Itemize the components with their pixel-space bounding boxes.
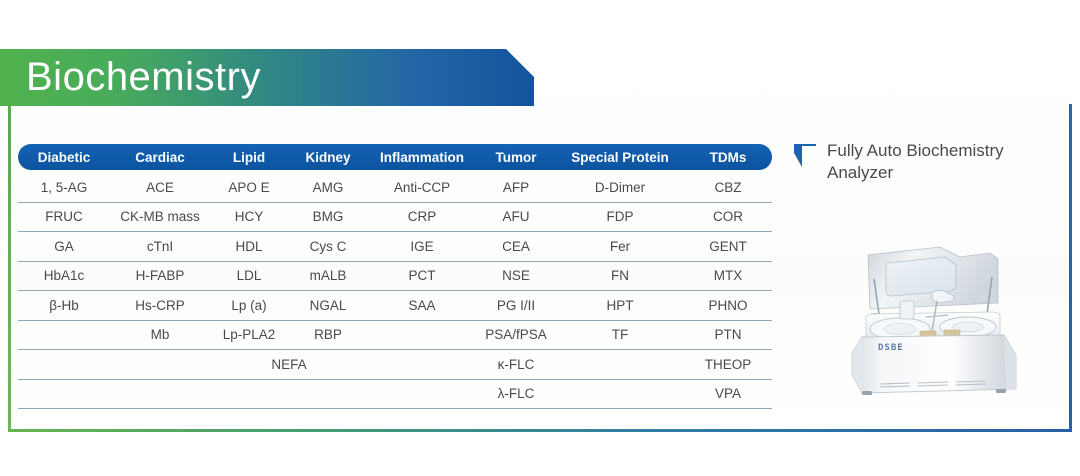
table-row: 1, 5-AG ACE APO E AMG Anti-CCP AFP D-Dim… xyxy=(18,170,772,202)
cell-tdms: VPA xyxy=(684,379,772,409)
cell-inflammation: CRP xyxy=(368,202,476,232)
column-header-lipid: Lipid xyxy=(210,144,288,170)
cell-tdms: GENT xyxy=(684,232,772,262)
cell-kidney: RBP xyxy=(288,320,368,350)
cell-special-protein: D-Dimer xyxy=(556,170,684,202)
column-header-inflammation: Inflammation xyxy=(368,144,476,170)
cell-special-protein: TF xyxy=(556,320,684,350)
cell-tdms: THEOP xyxy=(684,350,772,380)
section-banner: Biochemistry xyxy=(0,49,534,106)
cell-inflammation: IGE xyxy=(368,232,476,262)
cell-kidney: mALB xyxy=(288,261,368,291)
cell-tdms: MTX xyxy=(684,261,772,291)
product-heading-wrapper: Fully Auto Biochemistry Analyzer xyxy=(793,140,1063,185)
cell-inflammation: SAA xyxy=(368,291,476,321)
cell-inflammation xyxy=(368,320,476,350)
cell-diabetic: FRUC xyxy=(18,202,110,232)
cell-lipid: Lp-PLA2 xyxy=(210,320,288,350)
cell-diabetic: β-Hb xyxy=(18,291,110,321)
cell-tumor: CEA xyxy=(476,232,556,262)
panel-right-accent-border xyxy=(1069,104,1072,432)
cell-lipid: HDL xyxy=(210,232,288,262)
column-header-special-protein: Special Protein xyxy=(556,144,684,170)
cell-cardiac xyxy=(110,350,210,380)
column-header-diabetic: Diabetic xyxy=(18,144,110,170)
cell-inflammation xyxy=(368,379,476,409)
cell-cardiac: Hs-CRP xyxy=(110,291,210,321)
banner-title: Biochemistry xyxy=(0,57,261,97)
flag-marker-icon xyxy=(793,143,817,174)
table-row: β-Hb Hs-CRP Lp (a) NGAL SAA PG I/II HPT … xyxy=(18,291,772,321)
cell-cardiac: CK-MB mass xyxy=(110,202,210,232)
cell-tdms: CBZ xyxy=(684,170,772,202)
cell-special-protein xyxy=(556,379,684,409)
cell-cardiac: H-FABP xyxy=(110,261,210,291)
table-header-row: Diabetic Cardiac Lipid Kidney Inflammati… xyxy=(18,144,772,170)
cell-tumor: κ-FLC xyxy=(476,350,556,380)
table-row: Mb Lp-PLA2 RBP PSA/fPSA TF PTN xyxy=(18,320,772,350)
cell-tumor: PSA/fPSA xyxy=(476,320,556,350)
product-title: Fully Auto Biochemistry Analyzer xyxy=(827,140,1063,185)
table-body: 1, 5-AG ACE APO E AMG Anti-CCP AFP D-Dim… xyxy=(18,170,772,409)
cell-tumor: NSE xyxy=(476,261,556,291)
panel-bottom-accent-border xyxy=(8,429,1072,432)
cell-tumor: AFU xyxy=(476,202,556,232)
table-head: Diabetic Cardiac Lipid Kidney Inflammati… xyxy=(18,144,772,170)
cell-lipid: HCY xyxy=(210,202,288,232)
cell-diabetic: 1, 5-AG xyxy=(18,170,110,202)
cell-tumor: PG I/II xyxy=(476,291,556,321)
cell-lipid xyxy=(210,379,288,409)
column-header-tumor: Tumor xyxy=(476,144,556,170)
cell-diabetic: GA xyxy=(18,232,110,262)
cell-tumor: λ-FLC xyxy=(476,379,556,409)
cell-inflammation: Anti-CCP xyxy=(368,170,476,202)
table-row: HbA1c H-FABP LDL mALB PCT NSE FN MTX xyxy=(18,261,772,291)
cell-lipid-nefa: NEFA xyxy=(210,350,368,380)
product-image-analyzer xyxy=(840,243,1055,408)
cell-diabetic xyxy=(18,379,110,409)
cell-special-protein: FN xyxy=(556,261,684,291)
cell-kidney xyxy=(288,379,368,409)
product-brand-mark: DSBE xyxy=(878,343,904,353)
cell-lipid: APO E xyxy=(210,170,288,202)
cell-cardiac: Mb xyxy=(110,320,210,350)
cell-cardiac xyxy=(110,379,210,409)
table-row: FRUC CK-MB mass HCY BMG CRP AFU FDP COR xyxy=(18,202,772,232)
cell-cardiac: ACE xyxy=(110,170,210,202)
cell-inflammation xyxy=(368,350,476,380)
cell-special-protein: HPT xyxy=(556,291,684,321)
cell-tumor: AFP xyxy=(476,170,556,202)
test-menu-table-wrapper: Diabetic Cardiac Lipid Kidney Inflammati… xyxy=(18,144,772,409)
cell-tdms: PTN xyxy=(684,320,772,350)
panel-left-accent-border xyxy=(8,96,11,432)
cell-kidney: AMG xyxy=(288,170,368,202)
table-row: GA cTnI HDL Cys C IGE CEA Fer GENT xyxy=(18,232,772,262)
cell-special-protein xyxy=(556,350,684,380)
table-row: λ-FLC VPA xyxy=(18,379,772,409)
cell-lipid: Lp (a) xyxy=(210,291,288,321)
column-header-tdms: TDMs xyxy=(684,144,772,170)
cell-special-protein: FDP xyxy=(556,202,684,232)
column-header-cardiac: Cardiac xyxy=(110,144,210,170)
cell-tdms: COR xyxy=(684,202,772,232)
test-menu-table: Diabetic Cardiac Lipid Kidney Inflammati… xyxy=(18,144,772,409)
cell-cardiac: cTnI xyxy=(110,232,210,262)
table-row: NEFA κ-FLC THEOP xyxy=(18,350,772,380)
cell-kidney: NGAL xyxy=(288,291,368,321)
cell-kidney: Cys C xyxy=(288,232,368,262)
cell-special-protein: Fer xyxy=(556,232,684,262)
column-header-kidney: Kidney xyxy=(288,144,368,170)
cell-kidney: BMG xyxy=(288,202,368,232)
cell-diabetic: HbA1c xyxy=(18,261,110,291)
product-info-block: Fully Auto Biochemistry Analyzer xyxy=(793,140,1063,185)
cell-diabetic xyxy=(18,350,110,380)
cell-diabetic xyxy=(18,320,110,350)
cell-inflammation: PCT xyxy=(368,261,476,291)
cell-lipid: LDL xyxy=(210,261,288,291)
cell-tdms: PHNO xyxy=(684,291,772,321)
